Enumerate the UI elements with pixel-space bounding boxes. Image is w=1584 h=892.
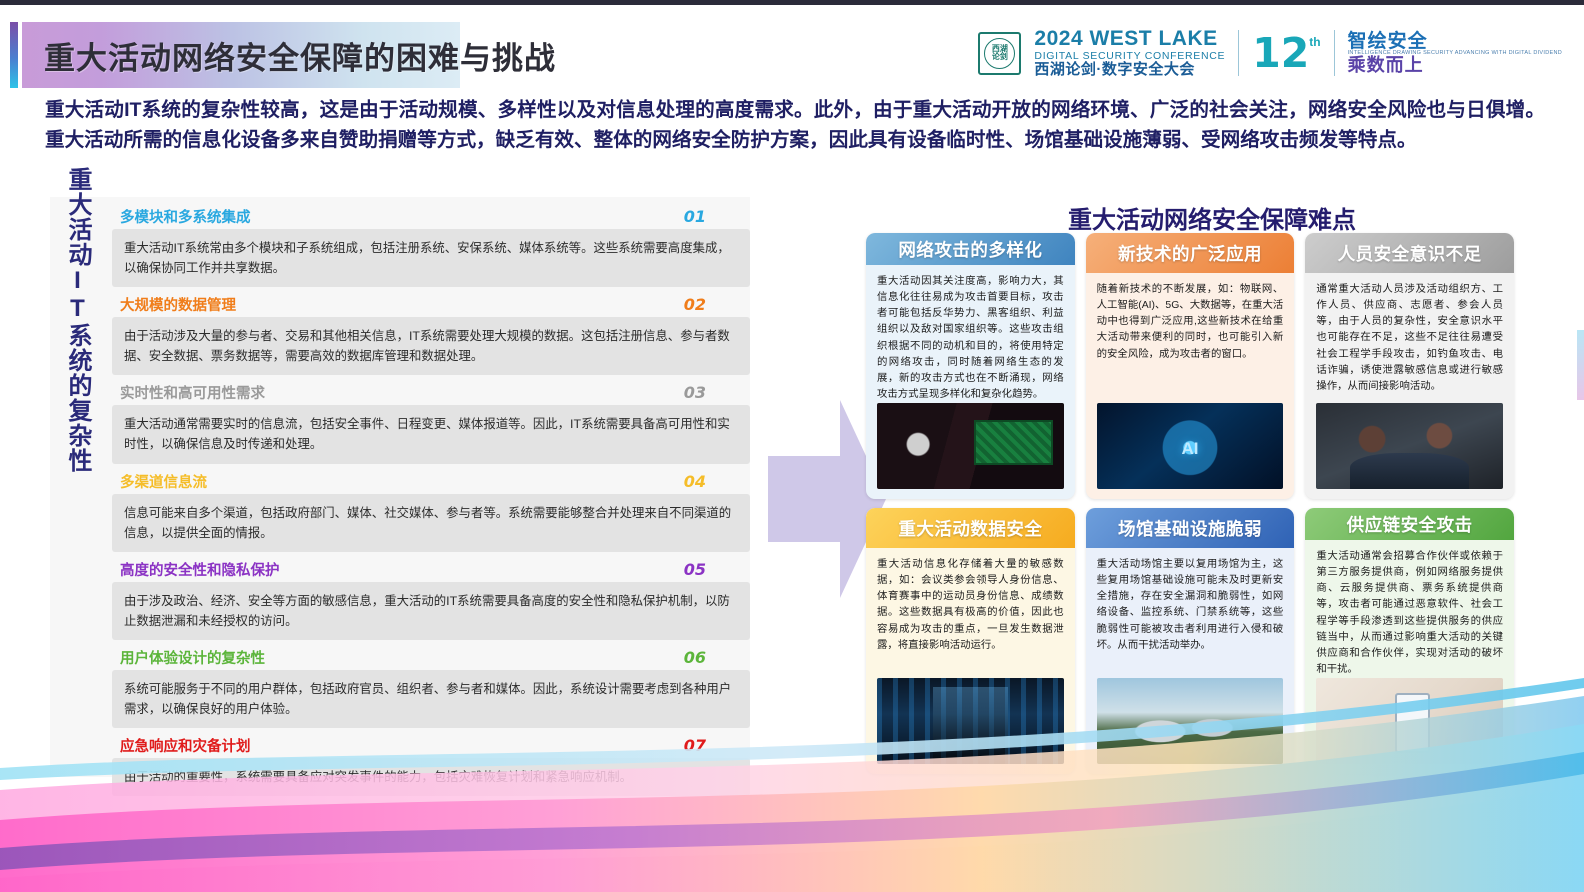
edition-suffix: th	[1309, 35, 1320, 49]
slogan-line-2: 乘数而上	[1348, 56, 1562, 74]
difficulty-card-body: 重大活动场馆主要以复用场馆为主，这些复用场馆基础设施可能未及时更新安全措施，存在…	[1086, 548, 1295, 774]
logo-chinese-name: 西湖论剑·数字安全大会	[1034, 62, 1225, 78]
complexity-item-number: 04	[684, 472, 742, 491]
complexity-item-head: 高度的安全性和隐私保护05	[112, 556, 750, 582]
difficulty-card[interactable]: 场馆基础设施脆弱重大活动场馆主要以复用场馆为主，这些复用场馆基础设施可能未及时更…	[1086, 508, 1295, 774]
difficulty-card[interactable]: 供应链安全攻击重大活动通常会招募合作伙伴或依赖于第三方服务提供商，例如网络服务提…	[1305, 508, 1514, 774]
complexity-item-title: 多模块和多系统集成	[120, 206, 251, 227]
complexity-item-number: 07	[684, 736, 742, 755]
slogan-line-1: 智绘安全	[1348, 32, 1562, 51]
complexity-item-title: 应急响应和灾备计划	[120, 735, 251, 756]
complexity-item: 实时性和高可用性需求03重大活动通常需要实时的信息流，包括安全事件、日程变更、媒…	[112, 379, 750, 463]
complexity-item-head: 应急响应和灾备计划07	[112, 732, 750, 758]
complexity-item-body: 系统可能服务于不同的用户群体，包括政府官员、组织者、参与者和媒体。因此，系统设计…	[112, 670, 750, 728]
complexity-item-number: 02	[684, 295, 742, 314]
conference-logo: 西湖 论剑 2024 WEST LAKE DIGITAL SECURITY CO…	[978, 24, 1562, 82]
logo-year-line: 2024 WEST LAKE	[1034, 28, 1225, 51]
difficulty-card-body: 随着新技术的不断发展，如：物联网、人工智能(AI)、5G、大数据等，在重大活动中…	[1086, 273, 1295, 499]
complexity-item-number: 03	[684, 383, 742, 402]
difficulty-card[interactable]: 人员安全意识不足通常重大活动人员涉及活动组织方、工作人员、供应商、志愿者、参会人…	[1305, 233, 1514, 499]
complexity-item: 用户体验设计的复杂性06系统可能服务于不同的用户群体，包括政府官员、组织者、参与…	[112, 644, 750, 728]
lead-paragraph: 重大活动IT系统的复杂性较高，这是由于活动规模、多样性以及对信息处理的高度需求。…	[45, 96, 1545, 156]
complexity-item: 大规模的数据管理02由于活动涉及大量的参与者、交易和其他相关信息，IT系统需要处…	[112, 291, 750, 375]
complexity-item-title: 用户体验设计的复杂性	[120, 647, 265, 668]
logo-divider-1	[1238, 30, 1239, 76]
difficulty-card[interactable]: 重大活动数据安全重大活动信息化存储着大量的敏感数据，如：会议类参会领导人身份信息…	[866, 508, 1075, 774]
complexity-item: 高度的安全性和隐私保护05由于涉及政治、经济、安全等方面的敏感信息，重大活动的I…	[112, 556, 750, 640]
difficulty-card-text: 重大活动通常会招募合作伙伴或依赖于第三方服务提供商，例如网络服务提供商、云服务提…	[1316, 549, 1503, 678]
slide-root: 重大活动网络安全保障的困难与挑战 西湖 论剑 2024 WEST LAKE DI…	[0, 0, 1584, 892]
complexity-item-title: 高度的安全性和隐私保护	[120, 559, 280, 580]
difficulty-card-text: 重大活动因其关注度高，影响力大，其信息化往往易成为攻击首要目标，攻击者可能包括反…	[877, 274, 1064, 403]
difficulty-card-body: 重大活动信息化存储着大量的敏感数据，如：会议类参会领导人身份信息、体育赛事中的运…	[866, 548, 1075, 774]
west-lake-seal-icon: 西湖 论剑	[978, 32, 1021, 75]
title-accent-bar	[10, 22, 18, 88]
difficulty-card-text: 重大活动信息化存储着大量的敏感数据，如：会议类参会领导人身份信息、体育赛事中的运…	[877, 557, 1064, 654]
complexity-item-title: 实时性和高可用性需求	[120, 382, 265, 403]
difficulty-card-body: 通常重大活动人员涉及活动组织方、工作人员、供应商、志愿者、参会人员等，由于人员的…	[1305, 273, 1514, 499]
complexity-item-body: 由于活动涉及大量的参与者、交易和其他相关信息，IT系统需要处理大规模的数据。这包…	[112, 317, 750, 375]
complexity-item-number: 06	[684, 648, 742, 667]
edition-number: 12	[1252, 35, 1309, 72]
difficulty-card-title: 场馆基础设施脆弱	[1086, 508, 1295, 548]
logo-divider-2	[1334, 30, 1335, 76]
difficulty-card-body: 重大活动通常会招募合作伙伴或依赖于第三方服务提供商，例如网络服务提供商、云服务提…	[1305, 540, 1514, 774]
complexity-item-head: 实时性和高可用性需求03	[112, 379, 750, 405]
difficulty-card[interactable]: 新技术的广泛应用随着新技术的不断发展，如：物联网、人工智能(AI)、5G、大数据…	[1086, 233, 1295, 499]
right-panel-title: 重大活动网络安全保障难点	[862, 200, 1562, 235]
difficulty-card-body: 重大活动因其关注度高，影响力大，其信息化往往易成为攻击首要目标，攻击者可能包括反…	[866, 265, 1075, 499]
supply-chain-photo	[1316, 678, 1503, 764]
difficulty-card-title: 新技术的广泛应用	[1086, 233, 1295, 273]
complexity-item-title: 多渠道信息流	[120, 471, 207, 492]
left-panel-vertical-label: 重大活动IT系统的复杂性	[55, 167, 91, 473]
difficulty-card-text: 通常重大活动人员涉及活动组织方、工作人员、供应商、志愿者、参会人员等，由于人员的…	[1316, 282, 1503, 395]
staff-photo	[1316, 403, 1503, 489]
difficulty-card[interactable]: 网络攻击的多样化重大活动因其关注度高，影响力大，其信息化往往易成为攻击首要目标，…	[866, 233, 1075, 499]
right-edge-accent	[1577, 330, 1584, 400]
datacenter-photo	[877, 678, 1064, 764]
complexity-item-number: 05	[684, 560, 742, 579]
difficulty-card-text: 随着新技术的不断发展，如：物联网、人工智能(AI)、5G、大数据等，在重大活动中…	[1097, 282, 1284, 363]
difficulty-card-title: 供应链安全攻击	[1305, 508, 1514, 540]
edition-badge: 12 th	[1252, 35, 1320, 72]
complexity-item-number: 01	[684, 207, 742, 226]
ai-network-photo	[1097, 403, 1284, 489]
complexity-item-body: 由于涉及政治、经济、安全等方面的敏感信息，重大活动的IT系统需要具备高度的安全性…	[112, 582, 750, 640]
hacker-photo	[877, 403, 1064, 489]
complexity-item: 应急响应和灾备计划07由于活动的重要性，系统需要具备应对突发事件的能力，包括灾难…	[112, 732, 750, 796]
difficulty-card-title: 人员安全意识不足	[1305, 233, 1514, 273]
logo-wordmark: 2024 WEST LAKE DIGITAL SECURITY CONFEREN…	[1034, 28, 1225, 78]
complexity-item-body: 重大活动通常需要实时的信息流，包括安全事件、日程变更、媒体报道等。因此，IT系统…	[112, 405, 750, 463]
difficulty-card-text: 重大活动场馆主要以复用场馆为主，这些复用场馆基础设施可能未及时更新安全措施，存在…	[1097, 557, 1284, 654]
difficulty-card-grid: 网络攻击的多样化重大活动因其关注度高，影响力大，其信息化往往易成为攻击首要目标，…	[866, 233, 1514, 774]
complexity-item: 多模块和多系统集成01重大活动IT系统常由多个模块和子系统组成，包括注册系统、安…	[112, 203, 750, 287]
difficulty-card-title: 重大活动数据安全	[866, 508, 1075, 548]
complexity-item-body: 信息可能来自多个渠道，包括政府部门、媒体、社交媒体、参与者等。系统需要能够整合并…	[112, 494, 750, 552]
seal-line-2: 论剑	[992, 53, 1008, 61]
slide-title-bar: 重大活动网络安全保障的困难与挑战	[22, 22, 460, 88]
page-title: 重大活动网络安全保障的困难与挑战	[22, 33, 556, 78]
complexity-item-body: 由于活动的重要性，系统需要具备应对突发事件的能力，包括灾难恢复计划和紧急响应机制…	[112, 758, 750, 796]
complexity-item: 多渠道信息流04信息可能来自多个渠道，包括政府部门、媒体、社交媒体、参与者等。系…	[112, 468, 750, 552]
difficulty-card-title: 网络攻击的多样化	[866, 233, 1075, 265]
complexity-item-body: 重大活动IT系统常由多个模块和子系统组成，包括注册系统、安保系统、媒体系统等。这…	[112, 229, 750, 287]
conference-slogan: 智绘安全 INTELLIGENCE DRAWING SECURITY ADVAN…	[1348, 32, 1562, 75]
top-dark-strip	[0, 0, 1584, 5]
complexity-item-head: 用户体验设计的复杂性06	[112, 644, 750, 670]
complexity-item-list: 多模块和多系统集成01重大活动IT系统常由多个模块和子系统组成，包括注册系统、安…	[112, 203, 750, 800]
complexity-item-title: 大规模的数据管理	[120, 294, 236, 315]
complexity-item-head: 多渠道信息流04	[112, 468, 750, 494]
venue-photo	[1097, 678, 1284, 764]
complexity-item-head: 大规模的数据管理02	[112, 291, 750, 317]
complexity-item-head: 多模块和多系统集成01	[112, 203, 750, 229]
